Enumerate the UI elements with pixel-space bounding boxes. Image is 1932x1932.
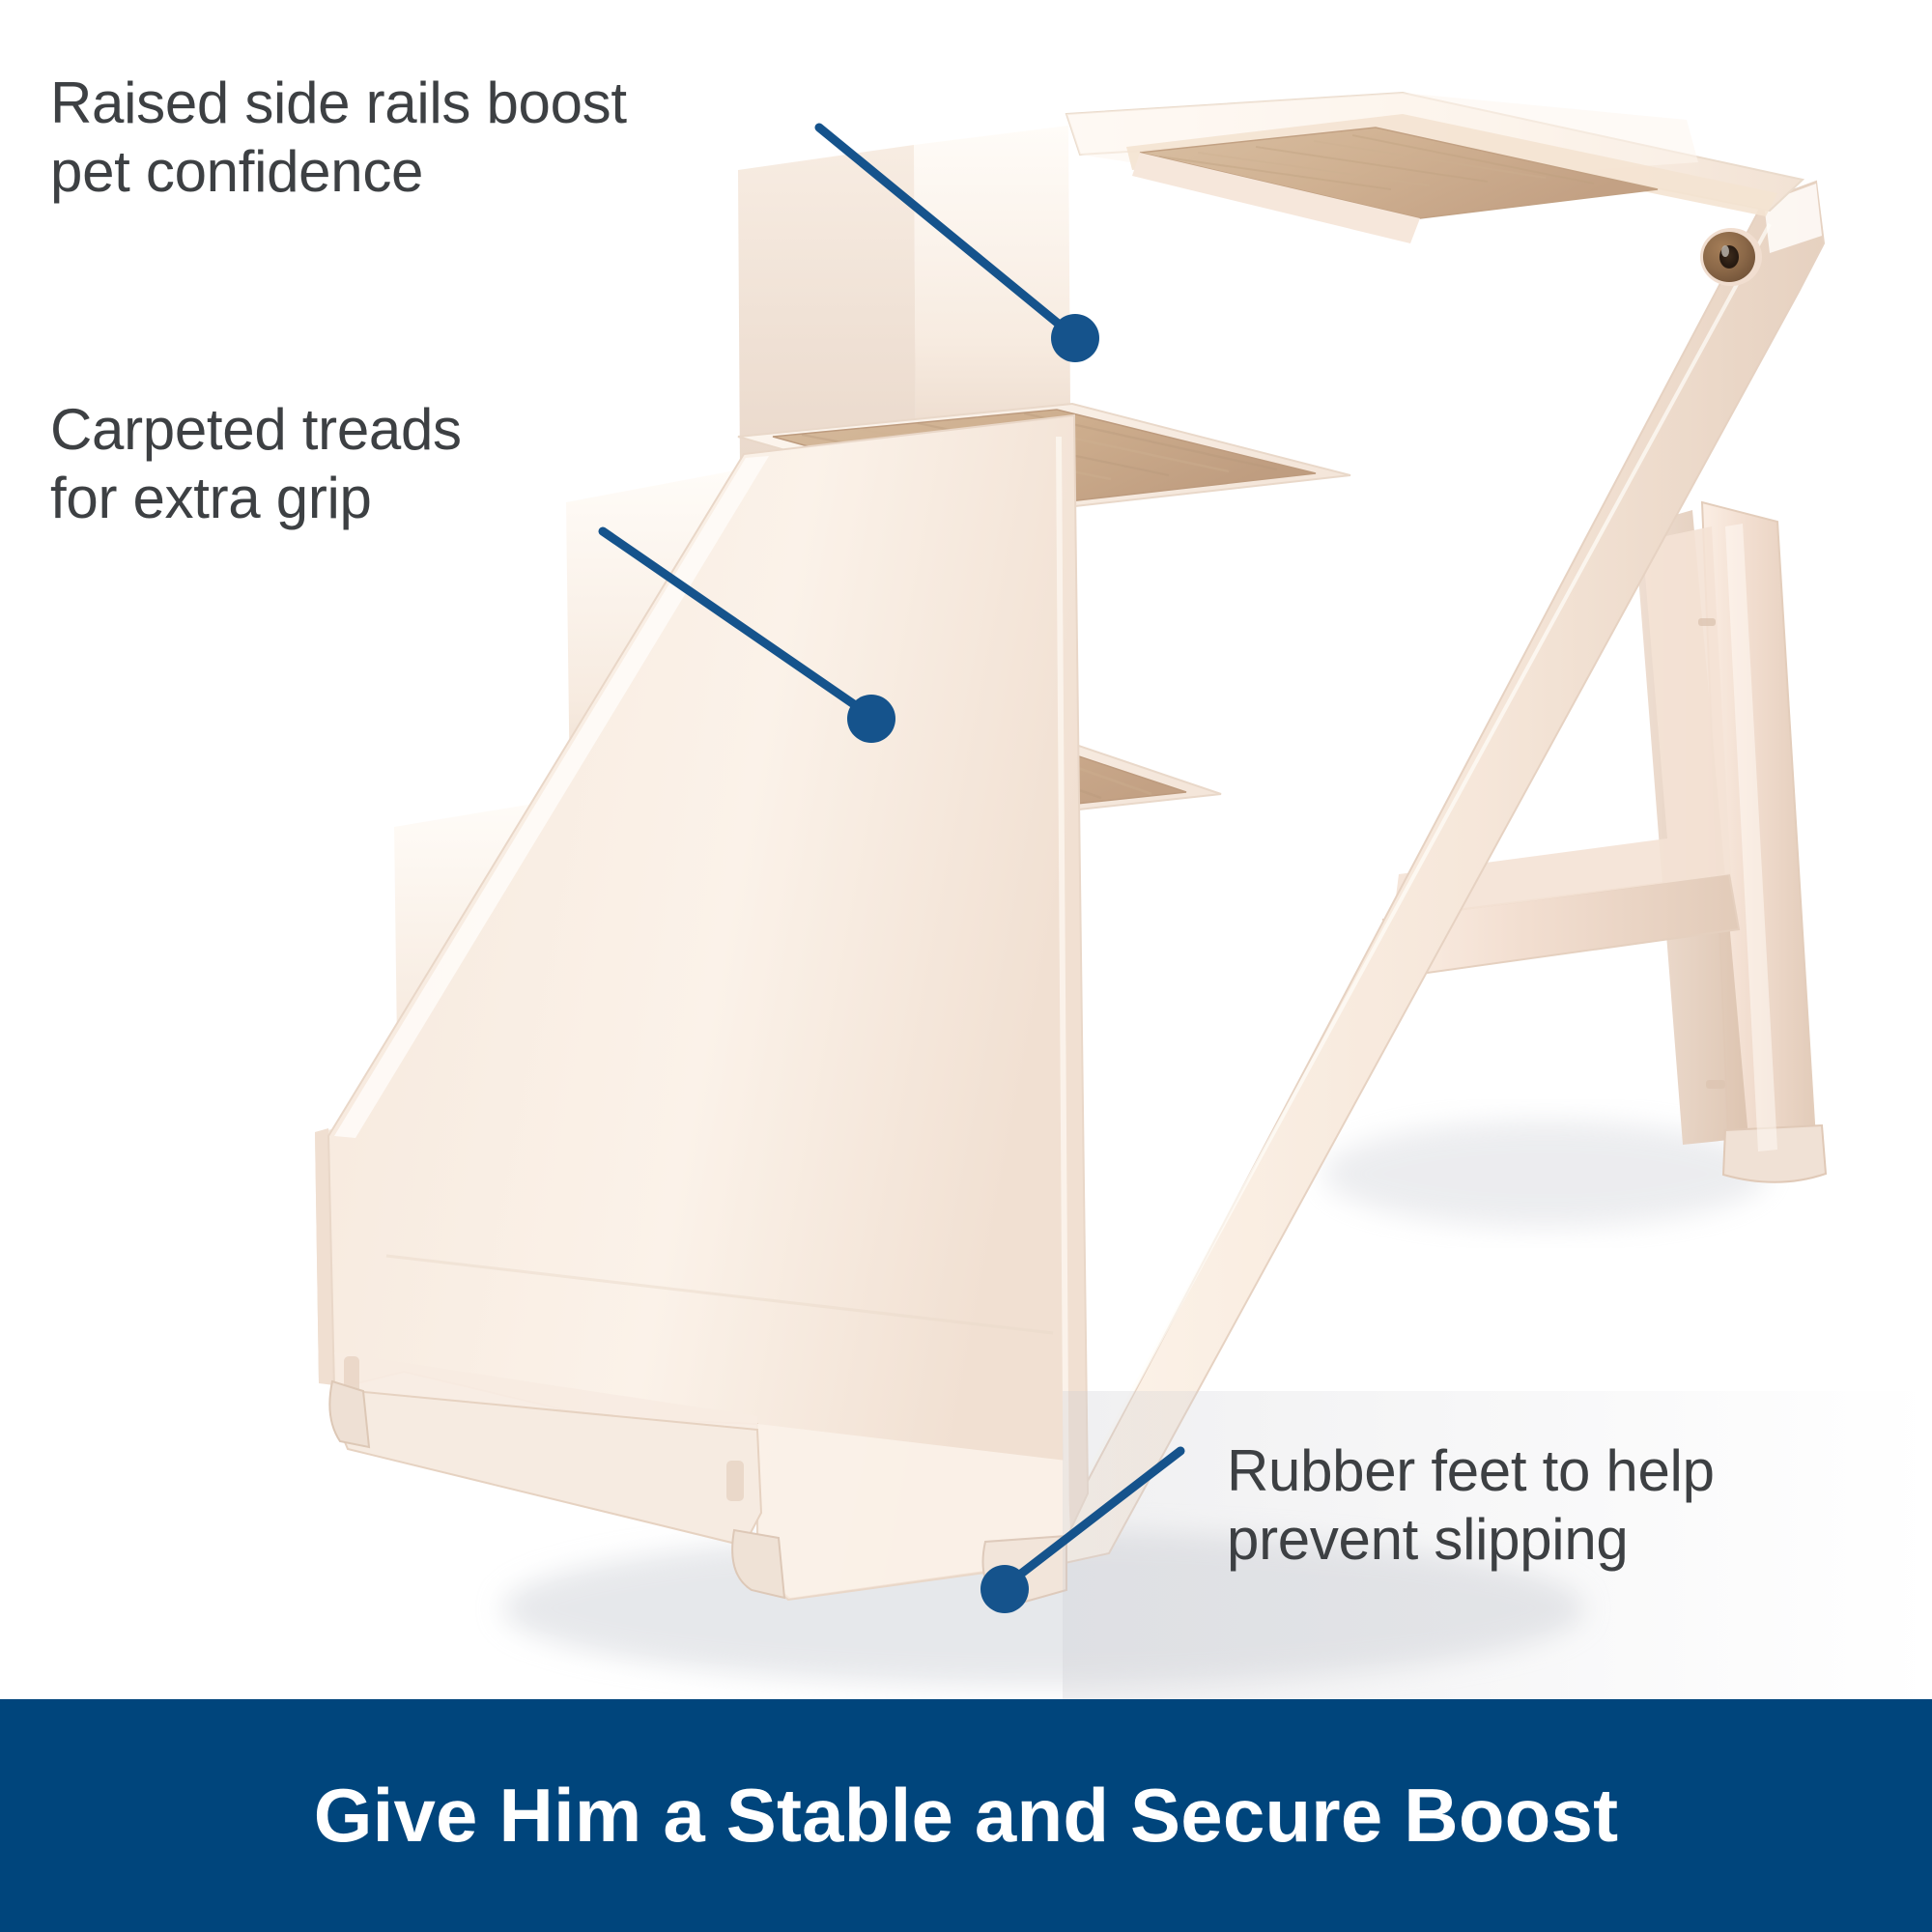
callout-label-carpeted-treads: Carpeted treads for extra grip xyxy=(50,396,553,533)
bottom-banner: Give Him a Stable and Secure Boost xyxy=(0,1699,1932,1932)
product-photo-pet-stairs xyxy=(0,0,1932,1932)
banner-headline: Give Him a Stable and Secure Boost xyxy=(314,1772,1619,1860)
callout-label-raised-side-rails: Raised side rails boost pet confidence xyxy=(50,70,668,207)
callout-label-rubber-feet: Rubber feet to help prevent slipping xyxy=(1227,1437,1932,1575)
infographic-canvas: Raised side rails boost pet confidence C… xyxy=(0,0,1932,1932)
top-platform xyxy=(1066,93,1803,243)
pivot-grommet xyxy=(1700,228,1762,286)
